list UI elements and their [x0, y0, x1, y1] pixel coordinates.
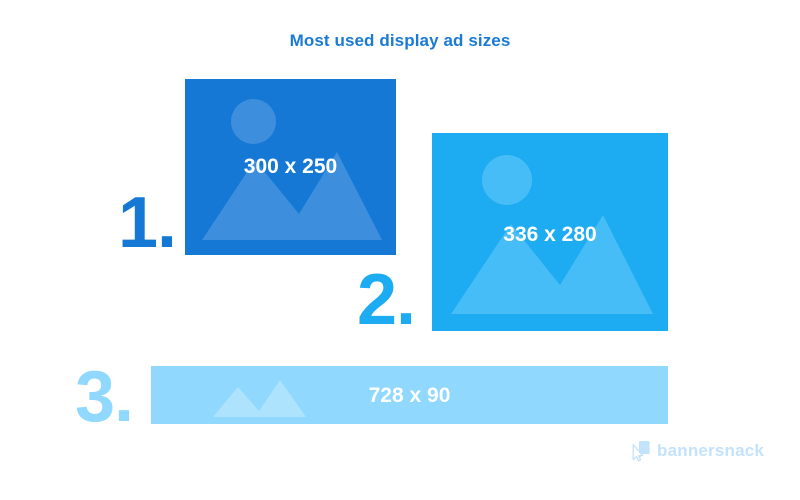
- ad-size-label-1: 300 x 250: [185, 155, 396, 179]
- ad-rank-number-1: 1.: [118, 187, 176, 259]
- ad-size-label-3: 728 x 90: [151, 384, 668, 408]
- brand-name: bannersnack: [657, 441, 764, 461]
- image-placeholder-mountains-icon: [451, 197, 653, 314]
- image-placeholder-mountains-icon: [202, 136, 382, 240]
- ad-rank-number-2: 2.: [357, 264, 415, 336]
- ad-size-label-2: 336 x 280: [432, 223, 668, 247]
- ad-size-block-2: 336 x 280: [432, 133, 668, 331]
- ad-size-block-1: 300 x 250: [185, 79, 396, 255]
- brand-logo: bannersnack: [630, 440, 764, 462]
- infographic-canvas: Most used display ad sizes 300 x 250 1. …: [0, 0, 800, 500]
- page-title: Most used display ad sizes: [0, 31, 800, 51]
- cursor-pointer-icon: [630, 440, 650, 462]
- ad-size-block-3: 728 x 90: [151, 366, 668, 424]
- ad-rank-number-3: 3.: [75, 361, 133, 433]
